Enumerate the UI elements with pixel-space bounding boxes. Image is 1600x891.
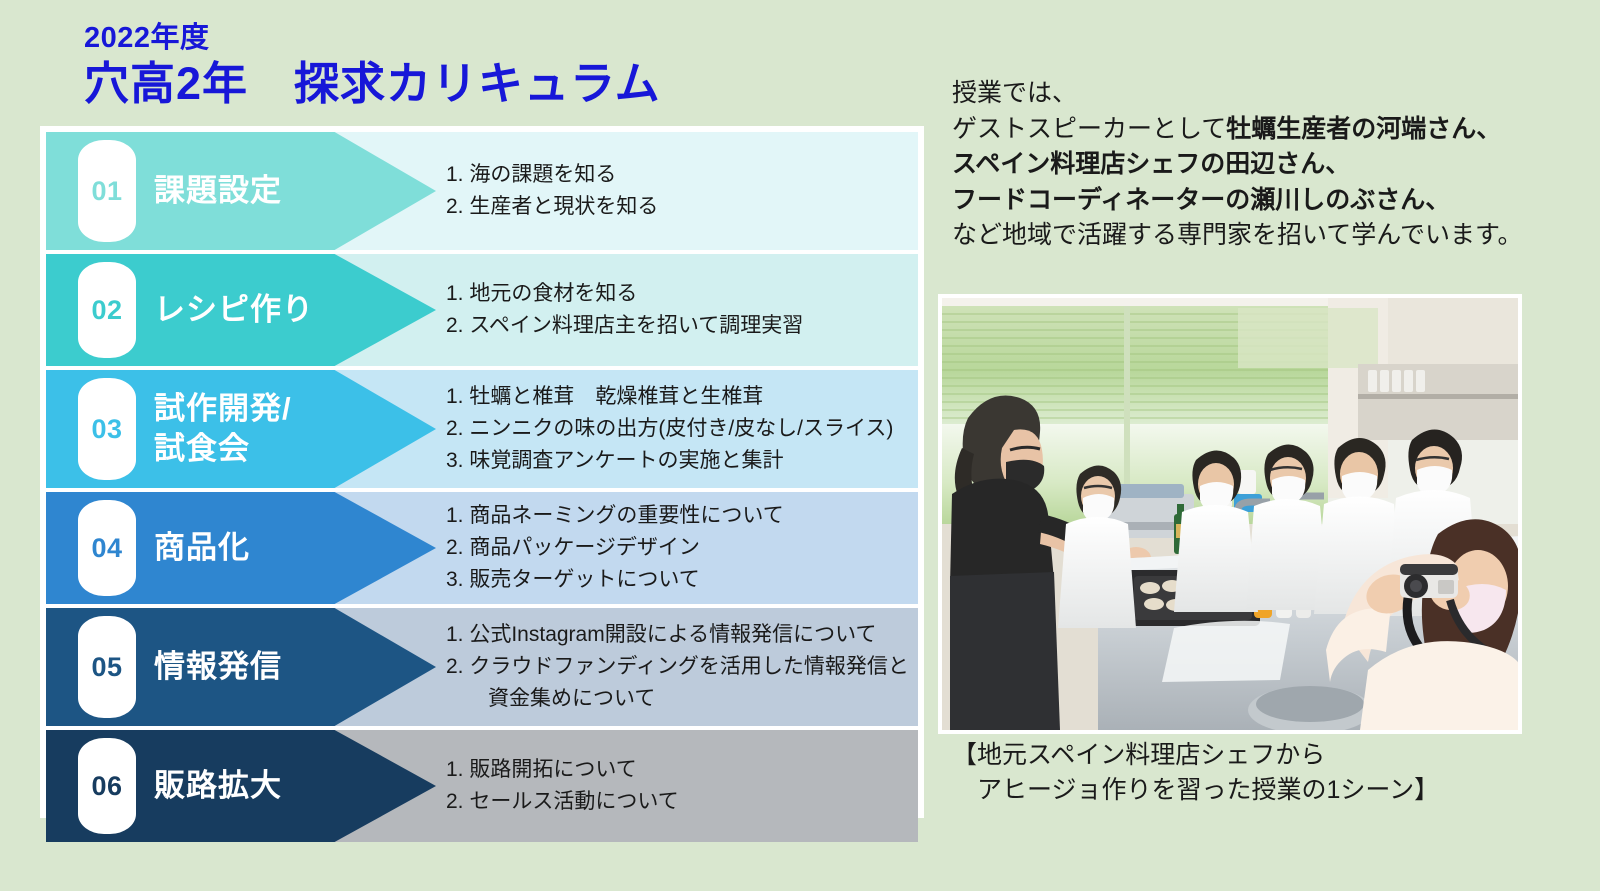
row-label: 試作開発/ 試食会 (154, 370, 404, 488)
intro-emphasis: 牡蠣生産者の河端さん、 (1226, 115, 1501, 143)
row-item: 資金集めについて (446, 683, 910, 715)
row-item: 2. クラウドファンディングを活用した情報発信と (446, 651, 910, 683)
title-main: 穴高2年 探求カリキュラム (84, 57, 904, 111)
row-item: 2. ニンニクの味の出方(皮付き/皮なし/スライス) (446, 413, 910, 445)
row-label: 商品化 (154, 492, 404, 604)
row-label: レシピ作り (154, 254, 404, 366)
intro-emphasis: フードコーディネーターの瀬川しのぶさん、 (952, 186, 1450, 214)
intro-line: スペイン料理店シェフの田辺さん、 (952, 147, 1592, 183)
row-number-badge: 02 (78, 262, 136, 358)
row-number: 01 (91, 178, 122, 205)
row-item-list: 1. 販路開拓について2. セールス活動について (446, 730, 910, 842)
row-item: 2. 商品パッケージデザイン (446, 532, 910, 564)
row-number-badge: 04 (78, 500, 136, 596)
row-item: 1. 商品ネーミングの重要性について (446, 500, 910, 532)
intro-line: など地域で活躍する専門家を招いて学んでいます。 (952, 218, 1592, 254)
classroom-cooking-photo (942, 298, 1518, 730)
intro-text-run: ゲストスピーカーとして (952, 115, 1226, 143)
title-year: 2022年度 (84, 22, 904, 55)
intro-text-run: など地域で活躍する専門家を招いて学んでいます。 (952, 221, 1523, 249)
row-item-list: 1. 公式Instagram開設による情報発信について2. クラウドファンディン… (446, 608, 910, 726)
row-label: 販路拡大 (154, 730, 404, 842)
row-item: 2. 生産者と現状を知る (446, 191, 910, 223)
row-item: 1. 牡蠣と椎茸 乾燥椎茸と生椎茸 (446, 381, 910, 413)
intro-line: 授業では、 (952, 76, 1592, 112)
curriculum-row[interactable]: 03試作開発/ 試食会1. 牡蠣と椎茸 乾燥椎茸と生椎茸2. ニンニクの味の出方… (46, 370, 918, 488)
curriculum-row[interactable]: 05情報発信1. 公式Instagram開設による情報発信について2. クラウド… (46, 608, 918, 726)
page-title: 2022年度 穴高2年 探求カリキュラム (84, 22, 904, 111)
row-label: 課題設定 (154, 132, 404, 250)
row-number-badge: 06 (78, 738, 136, 834)
intro-paragraph: 授業では、ゲストスピーカーとして牡蠣生産者の河端さん、スペイン料理店シェフの田辺… (952, 76, 1592, 254)
photo-illustration (942, 298, 1518, 730)
row-number: 06 (91, 773, 122, 800)
row-number: 03 (91, 416, 122, 443)
camera (1400, 564, 1458, 598)
row-item: 1. 公式Instagram開設による情報発信について (446, 619, 910, 651)
caption-line: アヒージョ作りを習った授業の1シーン】 (952, 773, 1572, 808)
row-item-list: 1. 海の課題を知る2. 生産者と現状を知る (446, 132, 910, 250)
row-item: 2. スペイン料理店主を招いて調理実習 (446, 310, 910, 342)
row-label: 情報発信 (154, 608, 404, 726)
caption-line: 【地元スペイン料理店シェフから (952, 738, 1572, 773)
intro-emphasis: スペイン料理店シェフの田辺さん、 (952, 150, 1350, 178)
row-item: 2. セールス活動について (446, 786, 910, 818)
row-item: 3. 味覚調査アンケートの実施と集計 (446, 445, 910, 477)
curriculum-card: 01課題設定1. 海の課題を知る2. 生産者と現状を知る02レシピ作り1. 地元… (40, 126, 924, 818)
row-item: 1. 海の課題を知る (446, 159, 910, 191)
row-item: 3. 販売ターゲットについて (446, 564, 910, 596)
row-number-badge: 01 (78, 140, 136, 242)
photo-caption: 【地元スペイン料理店シェフから アヒージョ作りを習った授業の1シーン】 (952, 738, 1572, 808)
row-number: 05 (91, 654, 122, 681)
row-item: 1. 地元の食材を知る (446, 278, 910, 310)
row-item-list: 1. 牡蠣と椎茸 乾燥椎茸と生椎茸2. ニンニクの味の出方(皮付き/皮なし/スラ… (446, 370, 910, 488)
curriculum-row[interactable]: 01課題設定1. 海の課題を知る2. 生産者と現状を知る (46, 132, 918, 250)
intro-line: ゲストスピーカーとして牡蠣生産者の河端さん、 (952, 112, 1592, 148)
row-item: 1. 販路開拓について (446, 754, 910, 786)
row-number-badge: 03 (78, 378, 136, 480)
photo-frame (938, 294, 1522, 734)
intro-text-run: 授業では、 (952, 79, 1077, 107)
row-item-list: 1. 商品ネーミングの重要性について2. 商品パッケージデザイン3. 販売ターゲ… (446, 492, 910, 604)
row-item-list: 1. 地元の食材を知る2. スペイン料理店主を招いて調理実習 (446, 254, 910, 366)
curriculum-row[interactable]: 02レシピ作り1. 地元の食材を知る2. スペイン料理店主を招いて調理実習 (46, 254, 918, 366)
curriculum-row[interactable]: 06販路拡大1. 販路開拓について2. セールス活動について (46, 730, 918, 842)
row-number: 04 (91, 535, 122, 562)
curriculum-row[interactable]: 04商品化1. 商品ネーミングの重要性について2. 商品パッケージデザイン3. … (46, 492, 918, 604)
curriculum-row-list: 01課題設定1. 海の課題を知る2. 生産者と現状を知る02レシピ作り1. 地元… (46, 132, 918, 812)
row-number: 02 (91, 297, 122, 324)
intro-line: フードコーディネーターの瀬川しのぶさん、 (952, 183, 1592, 219)
row-number-badge: 05 (78, 616, 136, 718)
